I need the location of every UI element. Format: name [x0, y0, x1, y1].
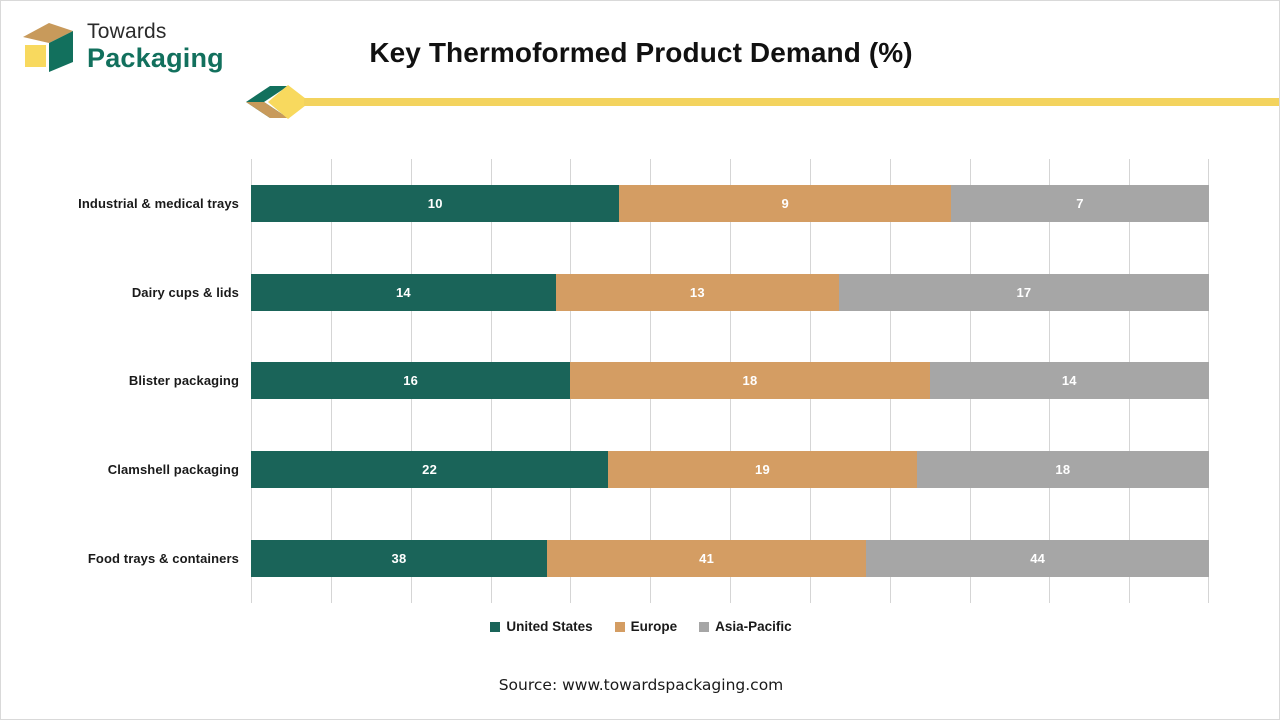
bar-segment: 7	[951, 185, 1209, 222]
category-label: Industrial & medical trays	[1, 159, 239, 248]
bar-segment: 16	[251, 362, 570, 399]
table-row: 141317	[251, 248, 1209, 337]
category-axis-labels: Industrial & medical trays Dairy cups & …	[1, 159, 239, 603]
bar-segment: 13	[556, 274, 839, 311]
bar-segment: 22	[251, 451, 608, 488]
bar-value-label: 17	[1016, 285, 1031, 300]
bar-segment: 19	[608, 451, 917, 488]
bar-value-label: 9	[782, 196, 789, 211]
bar-value-label: 44	[1030, 551, 1045, 566]
bar-value-label: 14	[1062, 373, 1077, 388]
slide-canvas: Towards Packaging Key Thermoformed Produ…	[0, 0, 1280, 720]
legend-label: Europe	[631, 619, 678, 634]
bar-value-label: 10	[428, 196, 443, 211]
bar-value-label: 41	[699, 551, 714, 566]
legend-label: United States	[506, 619, 592, 634]
bar-segment: 18	[917, 451, 1209, 488]
stacked-bar: 1097	[251, 185, 1209, 222]
bar-value-label: 7	[1076, 196, 1083, 211]
bar-segment: 17	[839, 274, 1209, 311]
stacked-bar: 161814	[251, 362, 1209, 399]
category-label: Clamshell packaging	[1, 425, 239, 514]
bar-value-label: 14	[396, 285, 411, 300]
bar-segment: 10	[251, 185, 619, 222]
table-row: 1097	[251, 159, 1209, 248]
legend-item-europe[interactable]: Europe	[615, 619, 678, 634]
bar-segment: 44	[866, 540, 1209, 577]
bar-value-label: 18	[743, 373, 758, 388]
bar-value-label: 19	[755, 462, 770, 477]
legend-item-united-states[interactable]: United States	[490, 619, 592, 634]
chart-legend: United States Europe Asia-Pacific	[1, 619, 1280, 634]
bar-segment: 18	[570, 362, 929, 399]
table-row: 384144	[251, 514, 1209, 603]
stacked-bar: 141317	[251, 274, 1209, 311]
bar-segment: 41	[547, 540, 866, 577]
table-row: 161814	[251, 337, 1209, 426]
bar-segment: 38	[251, 540, 547, 577]
legend-label: Asia-Pacific	[715, 619, 792, 634]
bar-value-label: 22	[422, 462, 437, 477]
bar-value-label: 13	[690, 285, 705, 300]
bar-value-label: 18	[1055, 462, 1070, 477]
stacked-bar: 221918	[251, 451, 1209, 488]
bar-value-label: 38	[392, 551, 407, 566]
stacked-bar: 384144	[251, 540, 1209, 577]
legend-item-asia-pacific[interactable]: Asia-Pacific	[699, 619, 792, 634]
arrow-diamond-divider-icon	[244, 81, 1280, 123]
legend-swatch-icon	[615, 622, 625, 632]
chart-plot-area: 1097 141317 161814 221918 384144	[251, 159, 1209, 603]
bar-segment: 14	[930, 362, 1209, 399]
category-label: Blister packaging	[1, 337, 239, 426]
source-note: Source: www.towardspackaging.com	[1, 676, 1280, 694]
bar-value-label: 16	[403, 373, 418, 388]
category-label: Dairy cups & lids	[1, 248, 239, 337]
bar-rows: 1097 141317 161814 221918 384144	[251, 159, 1209, 603]
bar-segment: 9	[619, 185, 951, 222]
legend-swatch-icon	[490, 622, 500, 632]
category-label: Food trays & containers	[1, 514, 239, 603]
table-row: 221918	[251, 425, 1209, 514]
legend-swatch-icon	[699, 622, 709, 632]
bar-segment: 14	[251, 274, 556, 311]
page-title: Key Thermoformed Product Demand (%)	[1, 37, 1280, 69]
